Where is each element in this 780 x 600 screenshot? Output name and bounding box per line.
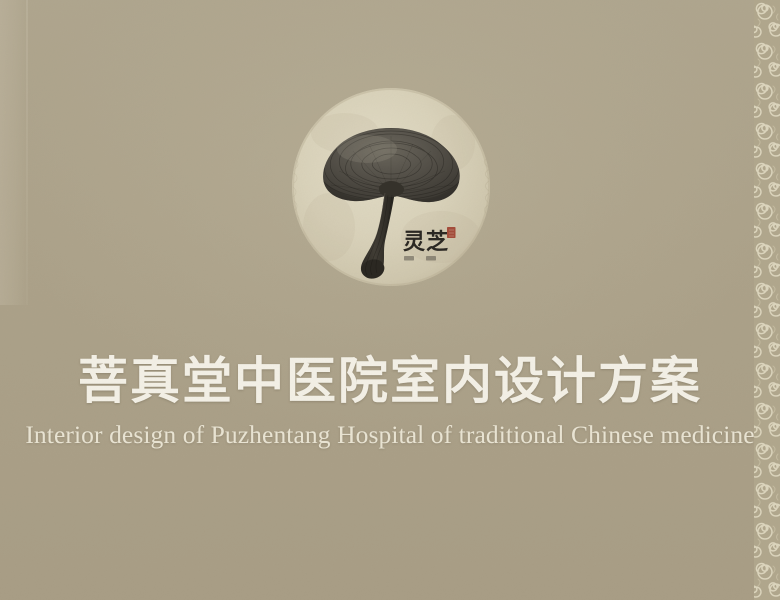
title-block: 菩真堂中医院室内设计方案 Interior design of Puzhenta…	[0, 352, 780, 450]
left-edge-band	[0, 0, 28, 305]
spiral-cloud-pattern-border	[754, 0, 780, 600]
left-edge-band-rule	[26, 0, 28, 305]
lingzhi-medallion: 灵芝	[291, 87, 491, 287]
calligraphy-lingzhi: 灵芝	[403, 229, 449, 255]
cover-page: 灵芝	[0, 0, 780, 600]
right-border-rule	[755, 0, 756, 600]
page-title-chinese: 菩真堂中医院室内设计方案	[0, 352, 780, 411]
red-seal-upper	[447, 227, 456, 238]
page-subtitle-english: Interior design of Puzhentang Hospital o…	[0, 420, 780, 450]
